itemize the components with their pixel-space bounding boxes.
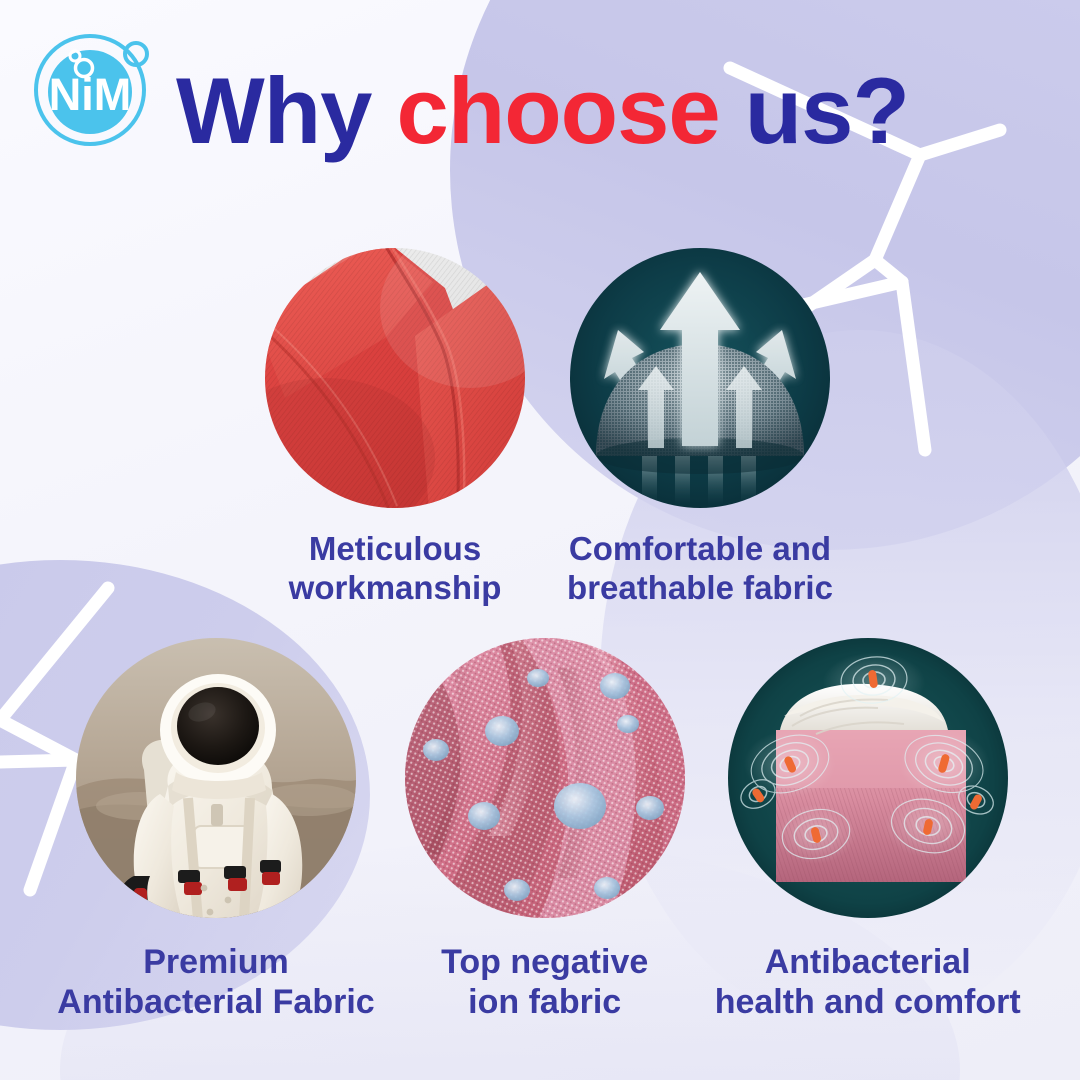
page-title: Why choose us?	[176, 62, 909, 161]
feature-caption: Meticulous workmanship	[289, 530, 502, 608]
title-word-choose: choose	[397, 58, 720, 163]
mattress-antibacterial-ripples-photo	[728, 638, 1008, 918]
feature-caption: Top negative ion fabric	[441, 942, 648, 1022]
title-word-why: Why	[176, 58, 397, 163]
poster-root: NiM Why choose us?	[0, 0, 1080, 1080]
feature-caption: Comfortable and breathable fabric	[567, 530, 833, 608]
feature-premium-antibacterial-fabric[interactable]: Premium Antibacterial Fabric	[57, 638, 374, 1022]
astronaut-spacesuit-photo	[76, 638, 356, 918]
feature-caption: Antibacterial health and comfort	[715, 942, 1021, 1022]
pink-negative-ion-fabric-photo	[405, 638, 685, 918]
feature-caption: Premium Antibacterial Fabric	[57, 942, 374, 1022]
nim-logo[interactable]: NiM	[28, 26, 156, 154]
feature-row-bottom: Premium Antibacterial Fabric	[0, 638, 1080, 1022]
title-word-us: us?	[720, 58, 909, 163]
feature-antibacterial-health-comfort[interactable]: Antibacterial health and comfort	[715, 638, 1021, 1022]
feature-meticulous-workmanship[interactable]: Meticulous workmanship	[265, 248, 525, 608]
feature-negative-ion-fabric[interactable]: Top negative ion fabric	[405, 638, 685, 1022]
red-knit-fabric-seam-photo	[265, 248, 525, 508]
logo-wordmark: NiM	[49, 69, 132, 120]
feature-row-top: Meticulous workmanship	[0, 248, 1080, 608]
breathable-mesh-airflow-diagram	[570, 248, 830, 508]
feature-breathable-fabric[interactable]: Comfortable and breathable fabric	[567, 248, 833, 608]
